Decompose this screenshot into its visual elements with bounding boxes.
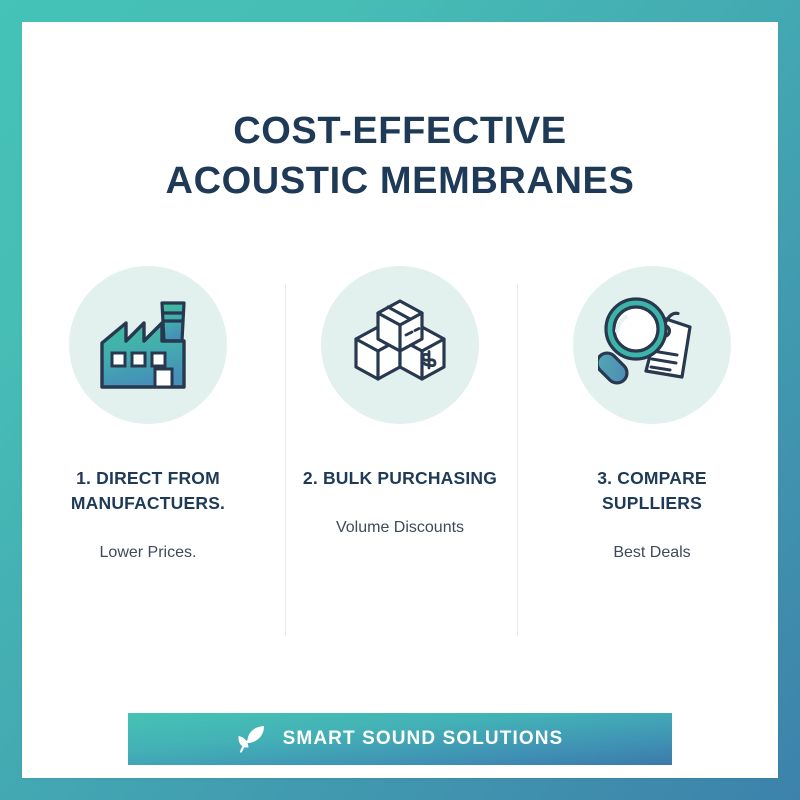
step-3-title: 3. COMPARE SUPLLIERS: [547, 466, 757, 516]
stacked-boxes-icon: [350, 295, 450, 395]
step-1-icon-circle: [69, 266, 227, 424]
step-2-subtitle: Volume Discounts: [336, 517, 464, 539]
step-card-1: 1. DIRECT FROM MANUFACTUERS. Lower Price…: [22, 266, 274, 564]
poster-card: COST-EFFECTIVE ACOUSTIC MEMBRANES: [22, 22, 778, 778]
magnifier-price-tag-icon: [598, 295, 706, 395]
step-1-title: 1. DIRECT FROM MANUFACTUERS.: [43, 466, 253, 516]
footer-banner: SMART SOUND SOLUTIONS: [128, 713, 672, 765]
title-line-2: ACOUSTIC MEMBRANES: [22, 156, 778, 206]
factory-icon: [92, 293, 204, 397]
step-2-icon-circle: [321, 266, 479, 424]
step-card-2: 2. BULK PURCHASING Volume Discounts: [274, 266, 526, 564]
page-title: COST-EFFECTIVE ACOUSTIC MEMBRANES: [22, 106, 778, 206]
poster-background: COST-EFFECTIVE ACOUSTIC MEMBRANES: [0, 0, 800, 800]
leaf-sprout-icon: [237, 725, 267, 753]
steps-row: 1. DIRECT FROM MANUFACTUERS. Lower Price…: [22, 266, 778, 564]
step-3-subtitle: Best Deals: [613, 542, 690, 564]
title-line-1: COST-EFFECTIVE: [22, 106, 778, 156]
step-2-title: 2. BULK PURCHASING: [303, 466, 497, 491]
brand-name: SMART SOUND SOLUTIONS: [283, 728, 564, 750]
step-3-icon-circle: [573, 266, 731, 424]
step-card-3: 3. COMPARE SUPLLIERS Best Deals: [526, 266, 778, 564]
step-1-subtitle: Lower Prices.: [100, 542, 197, 564]
